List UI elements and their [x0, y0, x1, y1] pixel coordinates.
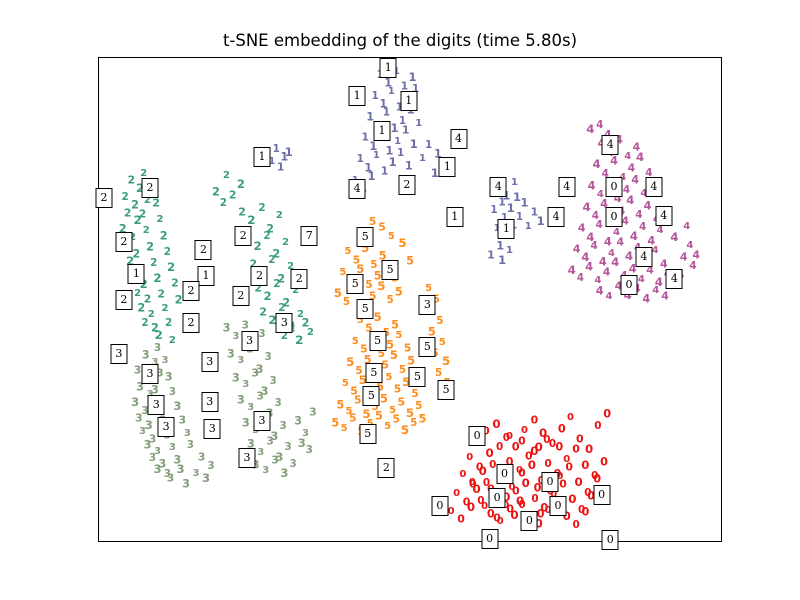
- annotation-label-0: 0: [431, 496, 448, 516]
- annotation-label-2: 2: [183, 313, 200, 333]
- tsne-figure: t-SNE embedding of the digits (time 5.80…: [0, 0, 800, 600]
- annotation-label-1: 1: [498, 219, 515, 239]
- annotation-label-2: 2: [95, 188, 112, 208]
- annotation-label-4: 4: [666, 269, 683, 289]
- annotation-label-5: 5: [347, 274, 364, 294]
- annotation-label-5: 5: [363, 386, 380, 406]
- annotation-label-0: 0: [606, 177, 623, 197]
- annotation-labels-layer: 1111411424404411222275404211222225540425…: [99, 58, 721, 541]
- annotation-label-4: 4: [645, 177, 662, 197]
- annotation-label-4: 4: [548, 207, 565, 227]
- annotation-label-3: 3: [201, 352, 218, 372]
- annotation-label-3: 3: [253, 411, 270, 431]
- annotation-label-5: 5: [359, 424, 376, 444]
- annotation-label-5: 5: [357, 299, 374, 319]
- annotation-label-2: 2: [232, 286, 249, 306]
- annotation-label-5: 5: [419, 337, 436, 357]
- annotation-label-1: 1: [374, 121, 391, 141]
- annotation-label-3: 3: [204, 419, 221, 439]
- annotation-label-2: 2: [142, 178, 159, 198]
- annotation-label-3: 3: [158, 417, 175, 437]
- annotation-label-3: 3: [110, 344, 127, 364]
- annotation-label-1: 1: [400, 91, 417, 111]
- page-title: t-SNE embedding of the digits (time 5.80…: [0, 31, 800, 50]
- annotation-label-2: 2: [195, 240, 212, 260]
- annotation-label-4: 4: [655, 206, 672, 226]
- annotation-label-5: 5: [409, 367, 426, 387]
- annotation-label-0: 0: [489, 488, 506, 508]
- annotation-label-0: 0: [541, 472, 558, 492]
- annotation-label-5: 5: [357, 227, 374, 247]
- annotation-label-0: 0: [496, 464, 513, 484]
- annotation-label-2: 2: [115, 290, 132, 310]
- annotation-label-1: 1: [380, 58, 397, 78]
- annotation-label-2: 2: [115, 232, 132, 252]
- annotation-label-0: 0: [481, 529, 498, 549]
- annotation-label-1: 1: [439, 157, 456, 177]
- annotation-label-2: 2: [398, 175, 415, 195]
- annotation-label-5: 5: [369, 331, 386, 351]
- annotation-label-4: 4: [558, 177, 575, 197]
- annotation-label-1: 1: [128, 264, 145, 284]
- annotation-label-7: 7: [301, 226, 318, 246]
- annotation-label-5: 5: [382, 260, 399, 280]
- annotation-label-0: 0: [469, 426, 486, 446]
- annotation-label-3: 3: [142, 364, 159, 384]
- annotation-label-2: 2: [378, 458, 395, 478]
- annotation-label-1: 1: [253, 147, 270, 167]
- annotation-label-4: 4: [450, 129, 467, 149]
- annotation-label-1: 1: [446, 207, 463, 227]
- annotation-label-4: 4: [490, 177, 507, 197]
- annotation-label-5: 5: [438, 380, 455, 400]
- annotation-label-0: 0: [606, 207, 623, 227]
- annotation-label-3: 3: [239, 448, 256, 468]
- annotation-label-2: 2: [235, 226, 252, 246]
- annotation-label-3: 3: [419, 295, 436, 315]
- annotation-label-3: 3: [241, 331, 258, 351]
- annotation-label-1: 1: [349, 86, 366, 106]
- annotation-label-3: 3: [201, 392, 218, 412]
- annotation-label-2: 2: [251, 266, 268, 286]
- annotation-label-1: 1: [197, 266, 214, 286]
- annotation-label-2: 2: [291, 269, 308, 289]
- annotation-label-5: 5: [365, 363, 382, 383]
- plot-axes: 0000000000000000000000000000000000000000…: [98, 57, 722, 542]
- annotation-label-3: 3: [148, 395, 165, 415]
- annotation-label-3: 3: [276, 313, 293, 333]
- annotation-label-4: 4: [602, 135, 619, 155]
- annotation-label-0: 0: [521, 511, 538, 531]
- annotation-label-4: 4: [635, 247, 652, 267]
- annotation-label-0: 0: [550, 496, 567, 516]
- annotation-label-0: 0: [602, 530, 619, 550]
- annotation-label-4: 4: [349, 179, 366, 199]
- annotation-label-0: 0: [620, 275, 637, 295]
- annotation-label-2: 2: [183, 281, 200, 301]
- annotation-label-0: 0: [593, 485, 610, 505]
